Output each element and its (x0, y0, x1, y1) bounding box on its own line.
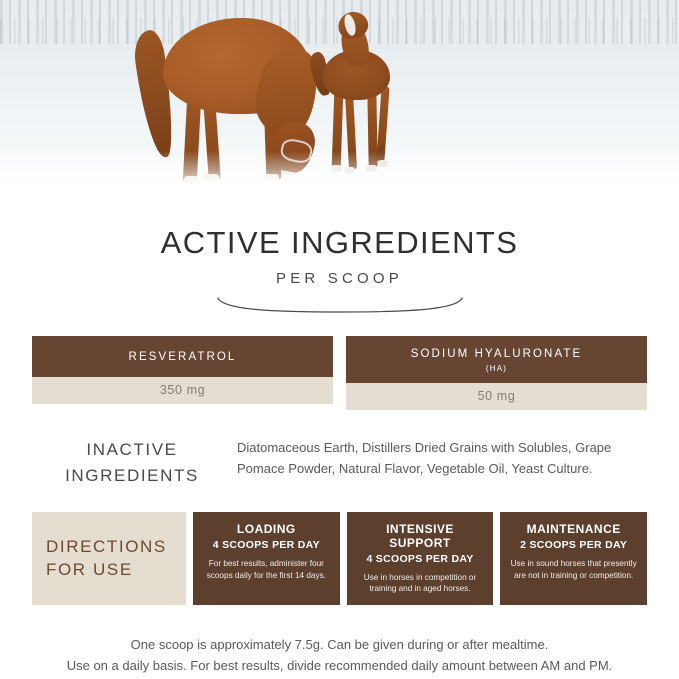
directions-card-body: For best results, administer four scoops… (202, 558, 331, 581)
ingredient-name-sodium-hyaluronate: SODIUM HYALURONATE (HA) (346, 336, 647, 383)
directions-card-title: INTENSIVE SUPPORT (356, 523, 485, 551)
directions-card-dose: 4 SCOOPS PER DAY (202, 539, 331, 551)
ingredient-qualifier: (HA) (352, 364, 641, 374)
product-label-page: ACTIVE INGREDIENTS PER SCOOP RESVERATROL… (0, 0, 679, 679)
directions-card-body: Use in sound horses that presently are n… (509, 558, 638, 581)
ingredient-column-sodium-hyaluronate: SODIUM HYALURONATE (HA) 50 mg (346, 336, 647, 410)
directions-title: DIRECTIONS FOR USE (32, 512, 186, 605)
inactive-ingredients-text: Diatomaceous Earth, Distillers Dried Gra… (232, 435, 647, 479)
footer-notes: One scoop is approximately 7.5g. Can be … (32, 634, 647, 676)
inactive-label-line2: INGREDIENTS (32, 463, 232, 489)
inactive-ingredients-label: INACTIVE INGREDIENTS (32, 435, 232, 488)
inactive-ingredients-row: INACTIVE INGREDIENTS Diatomaceous Earth,… (32, 435, 647, 488)
ingredient-amount-sodium-hyaluronate: 50 mg (346, 383, 647, 410)
directions-card-body: Use in horses in competition or training… (356, 572, 485, 595)
ornamental-divider-wrap (0, 295, 679, 315)
ingredient-amount-resveratrol: 350 mg (32, 377, 333, 404)
directions-title-line1: DIRECTIONS (46, 536, 186, 559)
directions-row: DIRECTIONS FOR USE LOADING 4 SCOOPS PER … (32, 512, 647, 605)
directions-card-title: MAINTENANCE (509, 523, 638, 537)
ingredient-name-resveratrol: RESVERATROL (32, 336, 333, 377)
title-block: ACTIVE INGREDIENTS PER SCOOP (0, 225, 679, 315)
ingredient-name-text: SODIUM HYALURONATE (411, 348, 583, 360)
directions-card-maintenance: MAINTENANCE 2 SCOOPS PER DAY Use in soun… (500, 512, 647, 605)
directions-title-line2: FOR USE (46, 559, 186, 582)
ornamental-divider-icon (215, 295, 465, 315)
ingredient-column-resveratrol: RESVERATROL 350 mg (32, 336, 333, 410)
active-ingredients-row: RESVERATROL 350 mg SODIUM HYALURONATE (H… (32, 336, 647, 410)
page-subtitle: PER SCOOP (0, 270, 679, 287)
page-title: ACTIVE INGREDIENTS (0, 225, 679, 261)
directions-card-dose: 4 SCOOPS PER DAY (356, 553, 485, 565)
hero-bottom-fade (0, 151, 679, 195)
directions-card-intensive-support: INTENSIVE SUPPORT 4 SCOOPS PER DAY Use i… (347, 512, 494, 605)
footer-line-1: One scoop is approximately 7.5g. Can be … (32, 634, 647, 655)
directions-card-loading: LOADING 4 SCOOPS PER DAY For best result… (193, 512, 340, 605)
inactive-label-line1: INACTIVE (32, 437, 232, 463)
hero-image (0, 0, 679, 195)
directions-card-title: LOADING (202, 523, 331, 537)
footer-line-2: Use on a daily basis. For best results, … (32, 655, 647, 676)
directions-card-dose: 2 SCOOPS PER DAY (509, 539, 638, 551)
